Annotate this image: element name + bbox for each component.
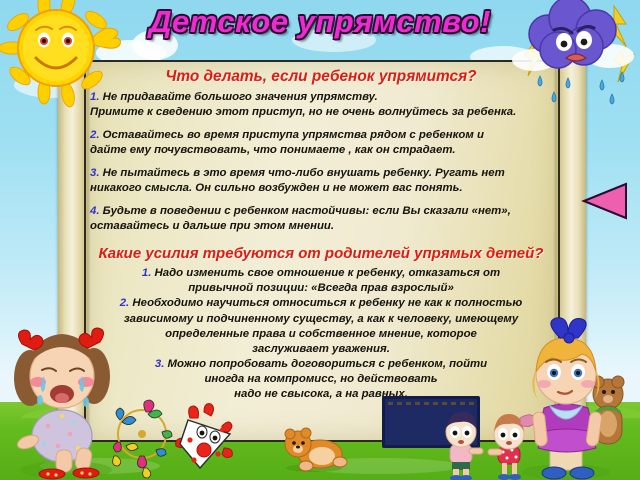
boy-figure [446, 412, 483, 478]
item-number: 3. [155, 358, 165, 370]
item-line: оставайтесь и дальше при этом мнении. [90, 220, 334, 232]
item-line: никакого смысла. Он сильно возбужден и н… [90, 182, 463, 194]
list-item: 1. Надо изменить свое отношение к ребенк… [90, 266, 552, 296]
poster-content: Что делать, если ребенок упрямится? 1. Н… [84, 62, 558, 436]
list-item: 4. Будьте в поведении с ребенком настойч… [90, 204, 552, 234]
section-heading-2: Какие усилия требуются от родителей упря… [90, 245, 552, 262]
list-item: 3. Можно попробовать договориться с ребе… [90, 357, 552, 402]
item-line: привычной позиции: «Всегда прав взрослый… [188, 282, 454, 294]
girl-with-teddy-icon [504, 316, 638, 480]
list-item: 3. Не пытайтесь в это время что-либо вну… [90, 166, 552, 196]
item-number: 3. [90, 167, 100, 179]
list-item: 1. Не придавайте большого значения упрям… [90, 90, 552, 120]
section-heading-1: Что делать, если ребенок упрямится? [90, 68, 552, 86]
crying-girl-icon [4, 318, 130, 480]
item-line: Будьте в поведении с ребенком настойчивы… [103, 205, 511, 217]
poster-canvas: Детское упрямство! [0, 0, 640, 480]
item-line: Можно попробовать договориться с ребенко… [168, 358, 488, 370]
item-number: 2. [90, 129, 100, 141]
item-line: определенные права и собственное мнение,… [165, 328, 477, 340]
page-title: Детское упрямство! [0, 4, 640, 40]
item-line: Не придавайте большого значения упрямств… [103, 91, 378, 103]
item-line: дайте ему почувствовать, что понимаете ,… [90, 144, 456, 156]
item-number: 1. [142, 267, 152, 279]
item-line: Необходимо научиться относиться к ребенк… [132, 297, 522, 309]
item-line: зависимому и подчиненному существу, а ка… [124, 313, 518, 325]
pink-pennant-icon [582, 182, 626, 220]
item-number: 4. [90, 205, 100, 217]
item-line: иногда на компромисс, но действовать [204, 373, 437, 385]
item-line: Надо изменить свое отношение к ребенку, … [155, 267, 501, 279]
list-item: 2. Оставайтесь во время приступа упрямст… [90, 128, 552, 158]
item-line: заслуживает уважения. [252, 343, 390, 355]
item-number: 2. [120, 297, 130, 309]
item-line: Примите к сведению этот приступ, но не о… [90, 106, 516, 118]
list-item: 2. Необходимо научиться относиться к реб… [90, 296, 552, 356]
item-line: Не пытайтесь в это время что-либо внушат… [103, 167, 505, 179]
teddy-bear-toy-icon [280, 424, 348, 472]
item-line: Оставайтесь во время приступа упрямства … [103, 129, 484, 141]
